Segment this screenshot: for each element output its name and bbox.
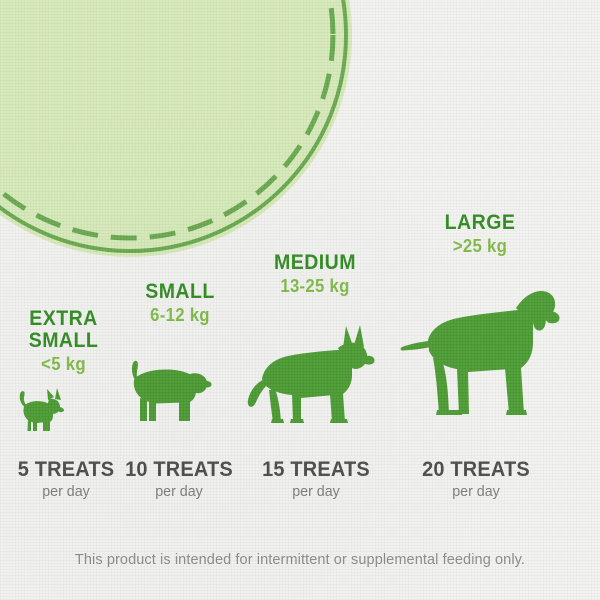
treat-period-small: per day <box>118 483 240 500</box>
disclaimer-text: This product is intended for intermitten… <box>0 552 600 568</box>
treats-column-extra-small: 5 TREATS per day <box>4 458 128 500</box>
treats-column-small: 10 TREATS per day <box>115 458 243 500</box>
shepherd-silhouette-icon <box>245 319 385 434</box>
size-column-small: SMALL 6-12 kg <box>120 281 240 428</box>
size-label-medium-line1: MEDIUM <box>250 252 380 274</box>
treat-count-medium: 15 TREATS <box>255 458 377 482</box>
size-weight-large: >25 kg <box>406 236 555 257</box>
size-column-medium: MEDIUM 13-25 kg <box>245 252 385 434</box>
treat-period-extra-small: per day <box>7 483 125 500</box>
beagle-silhouette-icon <box>120 352 240 428</box>
treat-period-large: per day <box>415 483 537 500</box>
treats-column-large: 20 TREATS per day <box>412 458 540 500</box>
pointer-silhouette-icon <box>400 277 560 429</box>
size-label-small-line1: SMALL <box>124 281 236 303</box>
chihuahua-silhouette-icon <box>6 385 121 439</box>
size-weight-extra-small: <5 kg <box>10 354 117 375</box>
size-label-extra-small-line1: EXTRA <box>10 308 117 330</box>
title-badge: FEEDING GUIDELINES <box>0 0 355 260</box>
size-label-extra-small-line2: SMALL <box>10 330 117 352</box>
treat-period-medium: per day <box>255 483 377 500</box>
treat-count-small: 10 TREATS <box>118 458 240 482</box>
size-column-extra-small: EXTRA SMALL <5 kg <box>6 308 121 439</box>
feeding-guidelines-poster: FEEDING GUIDELINES EXTRA SMALL <5 kg <box>0 0 600 600</box>
treats-column-medium: 15 TREATS per day <box>252 458 380 500</box>
size-weight-small: 6-12 kg <box>124 305 236 326</box>
size-column-large: LARGE >25 kg <box>400 212 560 429</box>
badge-fill-circle <box>0 0 352 257</box>
treat-count-large: 20 TREATS <box>415 458 537 482</box>
treat-count-extra-small: 5 TREATS <box>7 458 125 482</box>
size-label-large-line1: LARGE <box>406 212 555 234</box>
size-weight-medium: 13-25 kg <box>250 276 380 297</box>
